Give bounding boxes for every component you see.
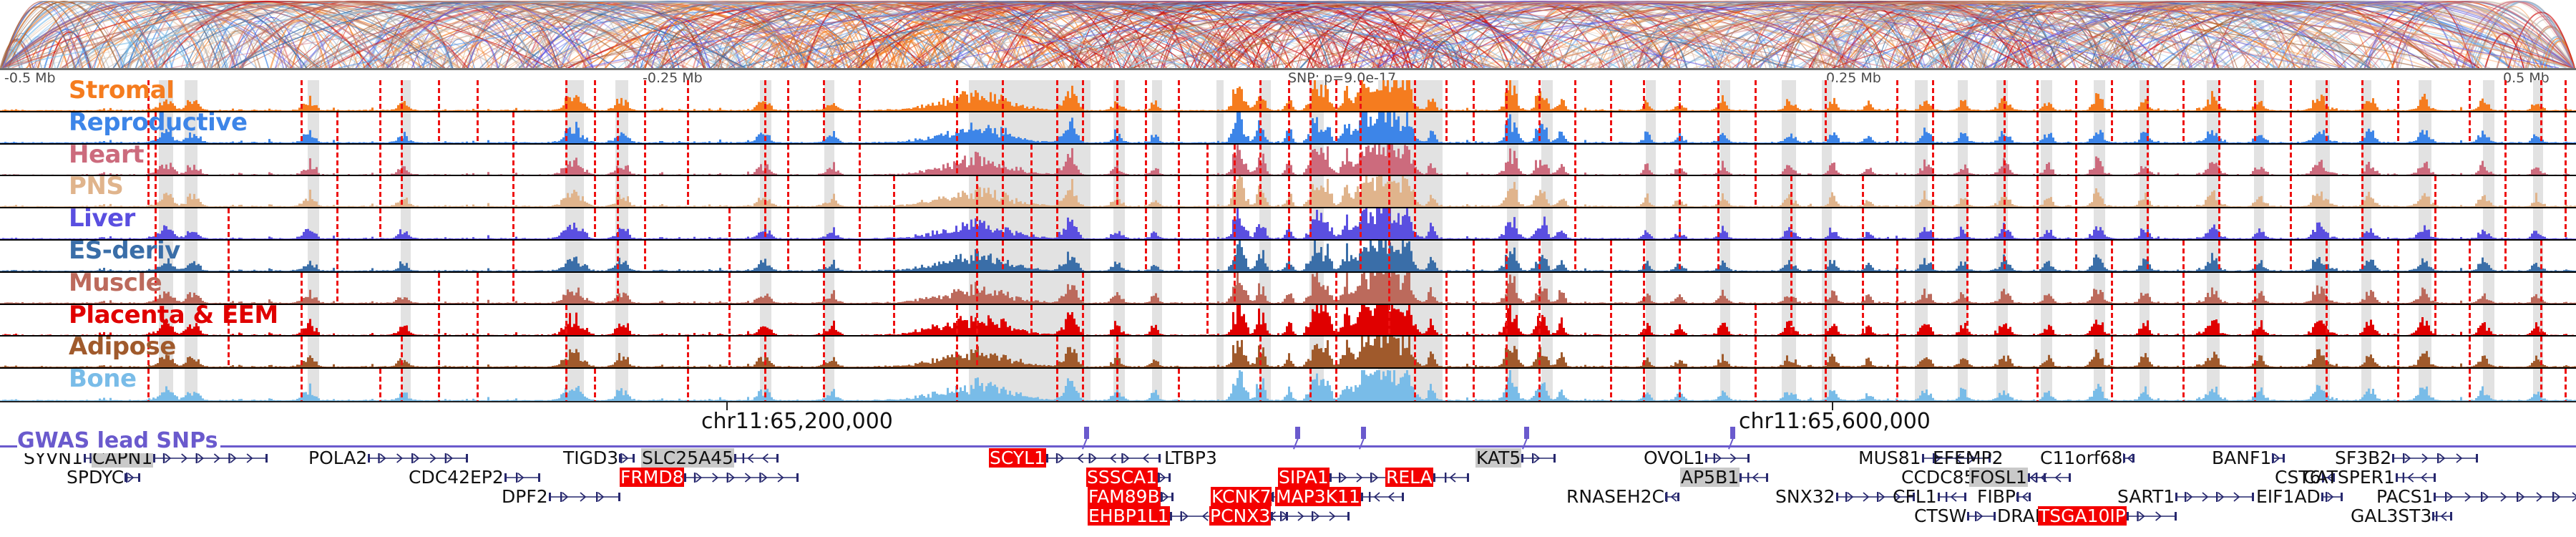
snp-marker-line <box>2036 176 2039 207</box>
snp-marker-line <box>477 305 479 336</box>
snp-marker-line <box>1896 80 1898 111</box>
snp-marker-line <box>2111 241 2113 271</box>
gene-label: SART1 <box>2117 487 2175 506</box>
signal-track-es-deriv: ES-deriv <box>0 241 2576 273</box>
snp-marker-line <box>1445 369 1448 401</box>
snp-marker-line <box>2565 112 2567 143</box>
snp-marker-line <box>2254 337 2256 367</box>
snp-marker-line <box>2326 273 2328 304</box>
snp-marker-line <box>859 112 861 143</box>
snp-marker-line <box>2147 241 2149 271</box>
gene-label: DPF2 <box>501 487 549 506</box>
track-label: Stromal <box>69 80 174 105</box>
gene-kat5[interactable]: KAT5 <box>1475 448 1556 468</box>
snp-marker-line <box>1414 337 1416 367</box>
snp-marker-line <box>2326 241 2328 271</box>
gene-model <box>1705 448 1750 468</box>
axis-line <box>0 401 2576 402</box>
track-label: Adipose <box>69 337 176 361</box>
snp-marker-line <box>764 80 766 111</box>
snp-marker-line <box>1825 305 1827 336</box>
snp-marker-line <box>976 337 978 367</box>
snp-marker-line <box>1755 112 1757 143</box>
snp-marker-line <box>787 112 789 143</box>
snp-marker-line <box>155 145 157 175</box>
snp-marker-line <box>512 112 514 143</box>
snp-marker-line <box>2111 337 2113 367</box>
gwas-snp-marker[interactable] <box>1524 427 1529 439</box>
gene-eif1ad[interactable]: EIF1AD <box>2255 487 2343 506</box>
gwas-snp-marker[interactable] <box>1084 427 1089 439</box>
snp-marker-line <box>976 208 978 239</box>
gene-model <box>549 487 620 506</box>
snp-marker-line <box>594 145 596 175</box>
snp-marker-line <box>155 176 157 207</box>
gene-scyl1[interactable]: SCYL1 <box>989 448 1161 468</box>
gene-pcnx3[interactable]: PCNX3 <box>1209 506 1350 526</box>
gene-rnaseh2c[interactable]: RNASEH2C <box>1566 487 1679 506</box>
gene-label: KCNK7 <box>1211 487 1272 506</box>
gene-label: FRMD8 <box>620 468 684 487</box>
gene-catsper1[interactable]: CATSPER1 <box>2303 468 2436 487</box>
snp-marker-line <box>1309 208 1312 239</box>
snp-marker-line <box>336 273 338 304</box>
gene-fosl1[interactable]: FOSL1 <box>1969 468 2071 487</box>
snp-marker-line <box>1002 176 1004 207</box>
snp-marker-line <box>1966 305 1968 336</box>
snp-marker-line <box>956 112 958 143</box>
snp-marker-line <box>379 145 381 175</box>
snp-marker-line <box>1538 337 1541 367</box>
snp-marker-line <box>644 80 646 111</box>
gene-c11orf68[interactable]: C11orf68 <box>2039 448 2135 468</box>
snp-marker-line <box>594 112 596 143</box>
gene-pola2[interactable]: POLA2 <box>308 448 468 468</box>
snp-marker-line <box>228 241 230 271</box>
gene-model <box>1967 506 1996 526</box>
snp-marker-line <box>401 145 403 175</box>
snp-marker-line <box>859 176 861 207</box>
snp-marker-line <box>477 273 479 304</box>
gene-model <box>2016 487 2031 506</box>
snp-marker-line <box>1610 369 1612 401</box>
signal-track-pns: PNS <box>0 176 2576 208</box>
snp-marker-line <box>1445 112 1448 143</box>
snp-marker-line <box>2540 80 2542 111</box>
snp-marker-line <box>1335 273 1337 304</box>
gene-model <box>1046 448 1161 468</box>
gene-model <box>2321 487 2343 506</box>
snp-marker-line <box>1610 305 1612 336</box>
snp-marker-line <box>687 337 689 367</box>
snp-marker-line <box>1825 337 1827 367</box>
snp-marker-line <box>1178 80 1180 111</box>
snp-marker-line <box>787 241 789 271</box>
snp-marker-line <box>379 176 381 207</box>
snp-marker-line <box>228 273 230 304</box>
snp-marker-line <box>301 337 303 367</box>
snp-marker-line <box>565 369 567 401</box>
snp-marker-line <box>1360 176 1362 207</box>
snp-marker-line <box>956 337 958 367</box>
signal-track-adipose: Adipose <box>0 337 2576 369</box>
gene-tsga10ip[interactable]: TSGA10IP <box>2038 506 2177 526</box>
gene-efemp2[interactable]: EFEMP2 <box>1932 448 2004 468</box>
snp-marker-line <box>228 337 230 367</box>
snp-marker-line <box>728 273 731 304</box>
snp-marker-line <box>2434 208 2436 239</box>
gene-fam89b[interactable]: FAM89B <box>1088 487 1174 506</box>
snp-marker-line <box>2540 273 2542 304</box>
snp-marker-line <box>2565 208 2567 239</box>
snp-marker-line <box>1473 80 1475 111</box>
snp-marker-line <box>438 305 440 336</box>
snp-marker-line <box>2565 369 2567 401</box>
snp-marker-line <box>1056 176 1058 207</box>
snp-marker-line <box>1082 80 1084 111</box>
snp-marker-line <box>1966 273 1968 304</box>
snp-marker-line <box>1116 112 1118 143</box>
snp-marker-line <box>2075 208 2077 239</box>
track-label: Muscle <box>69 273 162 297</box>
snp-marker-line <box>893 176 895 207</box>
snp-marker-line <box>1932 80 1934 111</box>
gene-ap5b1[interactable]: AP5B1 <box>1680 468 1768 487</box>
snp-marker-line <box>644 241 646 271</box>
gene-model <box>2123 448 2135 468</box>
snp-marker-line <box>2397 273 2399 304</box>
gene-fibp[interactable]: FIBP <box>1976 487 2031 506</box>
snp-marker-line <box>644 176 646 207</box>
snp-marker-line <box>1610 337 1612 367</box>
snp-marker-line <box>1259 112 1262 143</box>
snp-marker-line <box>2036 145 2039 175</box>
snp-marker-line <box>1414 208 1416 239</box>
snp-marker-line <box>301 273 303 304</box>
snp-marker-line <box>1145 176 1147 207</box>
gene-gal3st3[interactable]: GAL3ST3 <box>2350 506 2452 526</box>
gene-spdyc[interactable]: SPDYC <box>66 468 140 487</box>
snp-marker-line <box>1790 305 1792 336</box>
gene-sart1[interactable]: SART1 <box>2117 487 2254 506</box>
snp-marker-line <box>787 208 789 239</box>
gene-model <box>1161 487 1174 506</box>
snp-marker-line <box>1335 369 1337 401</box>
snp-marker-line <box>1932 112 1934 143</box>
gwas-baseline <box>0 445 2576 447</box>
signal-histogram <box>0 337 2576 367</box>
gene-pacs1[interactable]: PACS1 <box>2376 487 2576 506</box>
snp-marker-line <box>401 176 403 207</box>
snp-marker-line <box>2254 112 2256 143</box>
gene-label: CATSPER1 <box>2303 468 2396 487</box>
snp-marker-line <box>2147 176 2149 207</box>
gene-label: SPDYC <box>66 468 125 487</box>
snp-marker-line <box>1506 369 1508 401</box>
snp-marker-line <box>893 208 895 239</box>
snp-marker-line <box>2147 145 2149 175</box>
snp-marker-line <box>1145 80 1147 111</box>
gene-label: RELA <box>1385 468 1433 487</box>
gene-model <box>2272 448 2285 468</box>
snp-marker-line <box>687 176 689 207</box>
snp-marker-line <box>2218 241 2220 271</box>
track-label: Placenta & EEM <box>69 305 278 329</box>
gwas-track-label: GWAS lead SNPs <box>17 428 220 453</box>
snp-marker-line <box>976 241 978 271</box>
snp-marker-line <box>401 337 403 367</box>
snp-marker-line <box>1360 208 1362 239</box>
gene-label: CDC42EP2 <box>408 468 504 487</box>
snp-marker-line <box>2469 241 2471 271</box>
snp-marker-line <box>1056 208 1058 239</box>
gene-tigd3[interactable]: TIGD3 <box>562 448 635 468</box>
snp-marker-line <box>2326 337 2328 367</box>
snp-marker-line <box>1234 273 1236 304</box>
snp-marker-line <box>1538 305 1541 336</box>
snp-marker-line <box>976 176 978 207</box>
gene-ltbp3[interactable]: LTBP3 <box>1163 448 1218 468</box>
snp-marker-line <box>1030 176 1033 207</box>
snp-marker-line <box>2075 176 2077 207</box>
gene-label: AP5B1 <box>1680 468 1740 487</box>
gene-label: PCNX3 <box>1209 506 1271 526</box>
snp-marker-line <box>2290 208 2292 239</box>
gene-label: SCYL1 <box>989 448 1046 468</box>
gene-model <box>1361 487 1404 506</box>
snp-marker-line <box>2111 112 2113 143</box>
snp-marker-line <box>2504 208 2507 239</box>
snp-marker-line <box>379 369 381 401</box>
snp-marker-line <box>1082 112 1084 143</box>
snp-marker-line <box>728 208 731 239</box>
snp-marker-line <box>1825 273 1827 304</box>
gene-label: OVOL1 <box>1643 448 1705 468</box>
snp-marker-line <box>1030 145 1033 175</box>
snp-marker-line <box>2397 337 2399 367</box>
snp-marker-line <box>2182 369 2185 401</box>
gwas-snp-marker[interactable] <box>1361 427 1366 439</box>
snp-marker-line <box>1116 176 1118 207</box>
gene-annotation-track[interactable]: SYVN1CAPN1POLA2TIGD3SLC25A45SCYL1LTBP3KA… <box>0 448 2576 537</box>
gene-ctsw[interactable]: CTSW <box>1913 506 1996 526</box>
snp-marker-line <box>2004 145 2006 175</box>
snp-marker-line <box>1717 241 1719 271</box>
snp-marker-line <box>764 176 766 207</box>
snp-marker-line <box>2504 112 2507 143</box>
snp-marker-line <box>1538 241 1541 271</box>
snp-marker-line <box>1966 176 1968 207</box>
snp-marker-line <box>2504 241 2507 271</box>
snp-marker-line <box>2036 208 2039 239</box>
gene-label: MUS81 <box>1858 448 1922 468</box>
snp-marker-line <box>2397 80 2399 111</box>
snp-marker-line <box>2504 80 2507 111</box>
snp-marker-line <box>1234 241 1236 271</box>
snp-marker-line <box>1790 176 1792 207</box>
snp-marker-line <box>594 369 596 401</box>
snp-marker-line <box>2111 80 2113 111</box>
snp-marker-line <box>1932 241 1934 271</box>
track-label: Bone <box>69 369 137 393</box>
snp-marker-line <box>1790 273 1792 304</box>
snp-marker-line <box>594 208 596 239</box>
gene-cdc42ep2[interactable]: CDC42EP2 <box>408 468 540 487</box>
snp-marker-line <box>1002 208 1004 239</box>
snp-marker-line <box>301 369 303 401</box>
snp-marker-line <box>1755 80 1757 111</box>
snp-marker-line <box>1679 241 1681 271</box>
snp-marker-line <box>2540 305 2542 336</box>
snp-marker-line <box>565 145 567 175</box>
gene-ovol1[interactable]: OVOL1 <box>1643 448 1750 468</box>
snp-marker-line <box>1643 305 1645 336</box>
snp-marker-line <box>823 241 825 271</box>
snp-marker-line <box>1896 369 1898 401</box>
snp-marker-line <box>1116 369 1118 401</box>
gene-model <box>1433 468 1469 487</box>
snp-marker-line <box>1082 369 1084 401</box>
gene-cfl1[interactable]: CFL1 <box>1892 487 1966 506</box>
snp-marker-line <box>2469 112 2471 143</box>
gene-label: CTSW <box>1913 506 1967 526</box>
snp-marker-line <box>379 112 381 143</box>
snp-marker-line <box>1288 112 1290 143</box>
snp-marker-line <box>859 241 861 271</box>
snp-marker-line <box>644 112 646 143</box>
snp-marker-line <box>1360 145 1362 175</box>
snp-marker-line <box>1679 112 1681 143</box>
gene-row: SYVN1CAPN1POLA2TIGD3SLC25A45SCYL1LTBP3KA… <box>0 448 2576 468</box>
snp-marker-line <box>1574 176 1576 207</box>
snp-marker-line <box>336 241 338 271</box>
gene-frmd8[interactable]: FRMD8 <box>620 468 799 487</box>
snp-marker-line <box>1178 112 1180 143</box>
snp-marker-line <box>1145 208 1147 239</box>
snp-marker-line <box>1932 176 1934 207</box>
gene-rela[interactable]: RELA <box>1385 468 1469 487</box>
snp-marker-line <box>1896 337 1898 367</box>
gwas-snp-marker[interactable] <box>1730 427 1735 439</box>
snp-marker-line <box>1206 145 1209 175</box>
snp-marker-line <box>2434 241 2436 271</box>
snp-marker-line <box>379 80 381 111</box>
snp-marker-line <box>2565 176 2567 207</box>
gene-label: FOSL1 <box>1969 468 2028 487</box>
snp-marker-line <box>617 241 619 271</box>
snp-marker-line <box>2036 369 2039 401</box>
snp-marker-line <box>1755 337 1757 367</box>
snp-marker-line <box>1538 80 1541 111</box>
snp-marker-line <box>764 208 766 239</box>
snp-marker-line <box>1679 369 1681 401</box>
snp-marker-line <box>2290 241 2292 271</box>
snp-marker-line <box>336 112 338 143</box>
snp-marker-line <box>1610 273 1612 304</box>
snp-marker-line <box>617 208 619 239</box>
snp-marker-line <box>336 176 338 207</box>
snp-marker-line <box>2326 112 2328 143</box>
gene-label: LTBP3 <box>1163 448 1218 468</box>
gene-label: EFEMP2 <box>1932 448 2004 468</box>
snp-marker-line <box>438 80 440 111</box>
snp-marker-line <box>823 273 825 304</box>
snp-marker-line <box>1056 369 1058 401</box>
snp-marker-line <box>1790 241 1792 271</box>
snp-marker-line <box>1414 80 1416 111</box>
snp-marker-line <box>1116 337 1118 367</box>
snp-marker-line <box>1030 208 1033 239</box>
snp-marker-line <box>2290 80 2292 111</box>
snp-marker-line <box>956 369 958 401</box>
snp-marker-line <box>1506 80 1508 111</box>
snp-marker-line <box>512 241 514 271</box>
snp-marker-line <box>2504 145 2507 175</box>
snp-marker-line <box>155 208 157 239</box>
snp-marker-line <box>565 112 567 143</box>
snp-marker-line <box>2326 305 2328 336</box>
snp-marker-line <box>2254 273 2256 304</box>
snp-marker-line <box>1288 145 1290 175</box>
snp-marker-line <box>1825 80 1827 111</box>
snp-marker-line <box>2361 112 2363 143</box>
snp-marker-line <box>687 145 689 175</box>
snp-marker-line <box>617 145 619 175</box>
chromatin-interaction-arcs <box>0 0 2576 68</box>
snp-marker-line <box>1030 241 1033 271</box>
snp-marker-line <box>1234 145 1236 175</box>
snp-marker-line <box>2004 80 2006 111</box>
snp-marker-line <box>477 369 479 401</box>
snp-marker-line <box>644 208 646 239</box>
snp-marker-line <box>1234 208 1236 239</box>
snp-marker-line <box>1414 145 1416 175</box>
snp-marker-line <box>2254 305 2256 336</box>
gwas-lead-snps-track[interactable]: GWAS lead SNPs <box>0 427 2576 450</box>
gwas-snp-marker[interactable] <box>1295 427 1300 439</box>
snp-marker-line <box>1335 337 1337 367</box>
snp-marker-line <box>2361 208 2363 239</box>
gene-model <box>504 468 540 487</box>
snp-marker-line <box>1932 208 1934 239</box>
snp-marker-line <box>1388 208 1390 239</box>
snp-marker-line <box>2182 337 2185 367</box>
snp-marker-line <box>301 112 303 143</box>
snp-marker-line <box>2004 208 2006 239</box>
gene-banf1[interactable]: BANF1 <box>2211 448 2285 468</box>
snp-marker-line <box>728 305 731 336</box>
signal-track-stromal: Stromal <box>0 80 2576 112</box>
snp-marker-line <box>1862 273 1864 304</box>
snp-marker-line <box>644 145 646 175</box>
gene-sf3b2[interactable]: SF3B2 <box>2334 448 2478 468</box>
snp-marker-line <box>1002 80 1004 111</box>
snp-marker-line <box>1056 80 1058 111</box>
snp-marker-line <box>2540 241 2542 271</box>
snp-marker-line <box>2147 208 2149 239</box>
snp-marker-line <box>2397 305 2399 336</box>
snp-marker-line <box>1574 80 1576 111</box>
gene-slc25a45[interactable]: SLC25A45 <box>641 448 779 468</box>
gene-sssca1[interactable]: SSSCA1 <box>1086 468 1171 487</box>
gene-map3k11[interactable]: MAP3K11 <box>1275 487 1404 506</box>
gene-model <box>1740 468 1768 487</box>
gene-model <box>684 468 799 487</box>
snp-marker-line <box>1790 208 1792 239</box>
snp-marker-line <box>2397 369 2399 401</box>
snp-marker-line <box>1643 273 1645 304</box>
gene-dpf2[interactable]: DPF2 <box>501 487 620 506</box>
